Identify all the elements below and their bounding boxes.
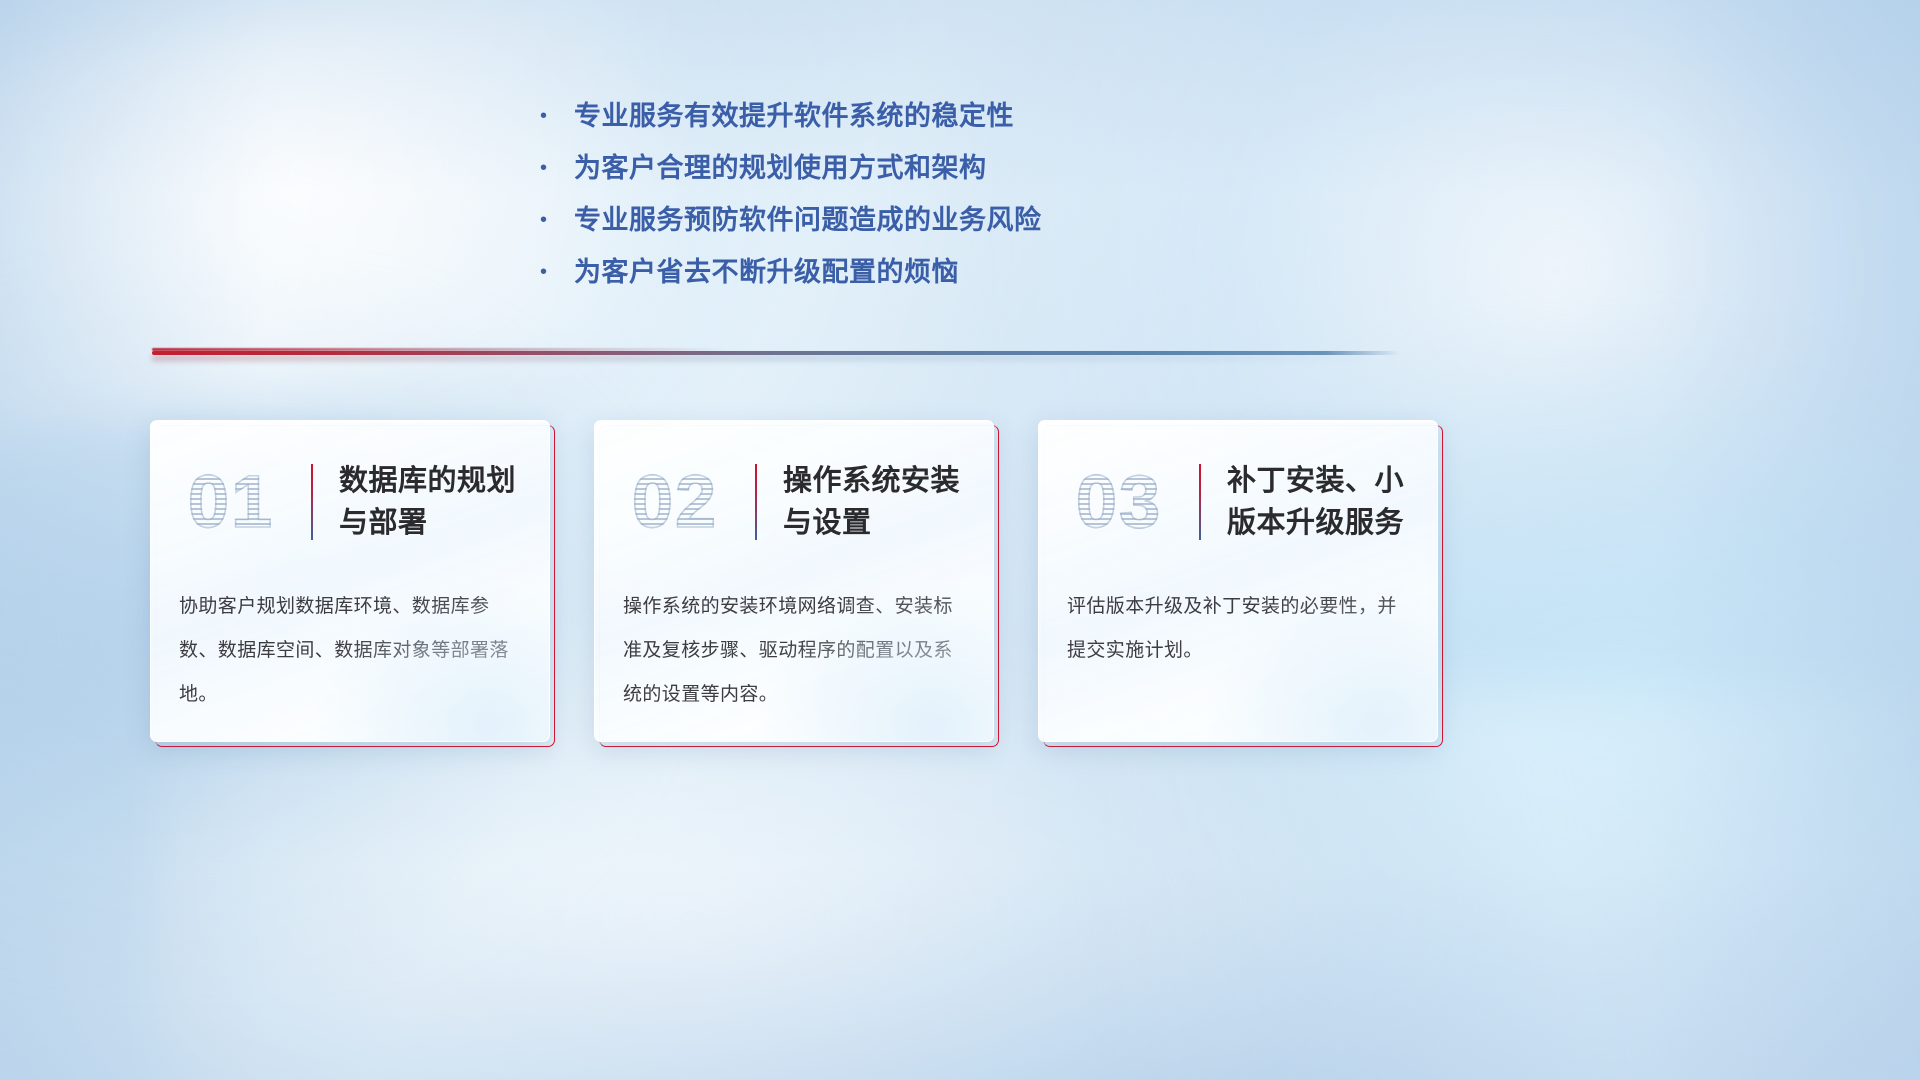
card-header: 03 补丁安装、小版本升级服务 [1039, 443, 1437, 561]
service-card[interactable]: 01 数据库的规划与部署 协助客户规划数据库环境、数据库参数、数据库空间、数据库… [150, 420, 550, 742]
card-number: 03 [1039, 443, 1199, 561]
service-card[interactable]: 02 操作系统安装与设置 操作系统的安装环境网络调查、安装标准及复核步骤、驱动程… [594, 420, 994, 742]
bullet-text: 为客户合理的规划使用方式和架构 [574, 142, 987, 194]
card-header: 01 数据库的规划与部署 [151, 443, 549, 561]
service-card[interactable]: 03 补丁安装、小版本升级服务 评估版本升级及补丁安装的必要性，并提交实施计划。 [1038, 420, 1438, 742]
list-item: • 为客户省去不断升级配置的烦恼 [540, 246, 1300, 298]
card-description: 评估版本升级及补丁安装的必要性，并提交实施计划。 [1067, 585, 1411, 673]
bullet-dot-icon: • [540, 194, 574, 246]
divider-highlight [152, 348, 726, 351]
list-item: • 为客户合理的规划使用方式和架构 [540, 142, 1300, 194]
benefits-bullet-list: • 专业服务有效提升软件系统的稳定性 • 为客户合理的规划使用方式和架构 • 专… [540, 90, 1300, 298]
card-title: 操作系统安装与设置 [757, 460, 993, 544]
bullet-text: 专业服务有效提升软件系统的稳定性 [574, 90, 1014, 142]
service-card-group: 01 数据库的规划与部署 协助客户规划数据库环境、数据库参数、数据库空间、数据库… [150, 420, 1770, 742]
bullet-dot-icon: • [540, 142, 574, 194]
list-item: • 专业服务预防软件问题造成的业务风险 [540, 194, 1300, 246]
card-surface: 03 补丁安装、小版本升级服务 评估版本升级及补丁安装的必要性，并提交实施计划。 [1038, 420, 1438, 742]
list-item: • 专业服务有效提升软件系统的稳定性 [540, 90, 1300, 142]
card-number: 02 [595, 443, 755, 561]
card-description: 协助客户规划数据库环境、数据库参数、数据库空间、数据库对象等部署落地。 [179, 585, 523, 717]
card-surface: 02 操作系统安装与设置 操作系统的安装环境网络调查、安装标准及复核步骤、驱动程… [594, 420, 994, 742]
card-header: 02 操作系统安装与设置 [595, 443, 993, 561]
bullet-dot-icon: • [540, 246, 574, 298]
card-number: 01 [151, 443, 311, 561]
card-title: 数据库的规划与部署 [313, 460, 549, 544]
section-divider [152, 346, 1400, 362]
divider-shadow [152, 355, 1400, 361]
card-title: 补丁安装、小版本升级服务 [1201, 460, 1437, 544]
bullet-dot-icon: • [540, 90, 574, 142]
divider-line [152, 351, 1400, 355]
card-surface: 01 数据库的规划与部署 协助客户规划数据库环境、数据库参数、数据库空间、数据库… [150, 420, 550, 742]
bullet-text: 为客户省去不断升级配置的烦恼 [574, 246, 959, 298]
card-description: 操作系统的安装环境网络调查、安装标准及复核步骤、驱动程序的配置以及系统的设置等内… [623, 585, 967, 717]
bullet-text: 专业服务预防软件问题造成的业务风险 [574, 194, 1042, 246]
